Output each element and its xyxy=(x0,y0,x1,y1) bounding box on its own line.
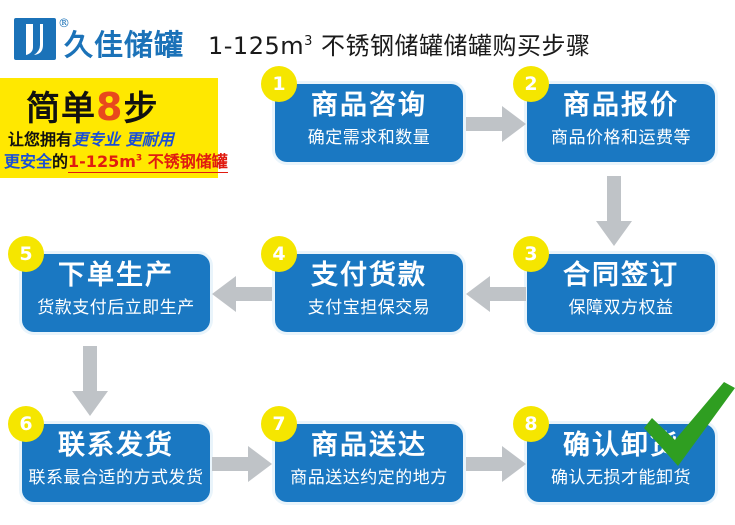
promo-headline: 简单8步 xyxy=(26,81,158,130)
promo-headline-pre: 简单 xyxy=(26,89,96,129)
arrow-step4-to-step5-icon xyxy=(212,274,272,314)
arrow-step6-to-step7-icon xyxy=(212,444,272,484)
step-badge-6: 6 xyxy=(8,406,44,442)
step-title-1: 商品咨询 xyxy=(275,92,463,119)
promo-line2-red-post: 不锈钢储罐 xyxy=(142,152,228,171)
step-subtitle-3: 保障双方权益 xyxy=(527,300,715,317)
brand-name: 久佳储罐 xyxy=(64,22,184,64)
promo-line2-red: 1-125m3 不锈钢储罐 xyxy=(68,152,228,173)
promo-line2-blue: 更安全 xyxy=(4,152,52,171)
promo-line1-blue: 更专业 更耐用 xyxy=(72,130,174,149)
promo-line2-red-pre: 1-125m xyxy=(68,152,136,171)
header: ® 久佳储罐 1-125m3 不锈钢储罐储罐购买步骤 xyxy=(0,0,735,66)
step-subtitle-8: 确认无损才能卸货 xyxy=(527,470,715,487)
arrow-step7-to-step8-icon xyxy=(466,444,526,484)
arrow-step2-to-step3-icon xyxy=(594,176,634,246)
arrow-step5-to-step6-icon xyxy=(70,346,110,416)
arrow-step3-to-step4-icon xyxy=(466,274,526,314)
step-box-7[interactable]: 7 商品送达 商品送达约定的地方 xyxy=(275,424,463,502)
promo-line-2: 更安全的1-125m3 不锈钢储罐 xyxy=(4,148,228,172)
step-badge-8: 8 xyxy=(513,406,549,442)
step-badge-7: 7 xyxy=(261,406,297,442)
step-badge-3: 3 xyxy=(513,236,549,272)
step-box-3[interactable]: 3 合同签订 保障双方权益 xyxy=(527,254,715,332)
promo-line1-black: 让您拥有 xyxy=(8,130,72,149)
promo-line2-black: 的 xyxy=(52,152,68,171)
step-title-3: 合同签订 xyxy=(527,262,715,289)
step-subtitle-6: 联系最合适的方式发货 xyxy=(22,470,210,487)
process-flow-infographic: ® 久佳储罐 1-125m3 不锈钢储罐储罐购买步骤 简单8步 让您拥有更专业 … xyxy=(0,0,735,525)
step-badge-5: 5 xyxy=(8,236,44,272)
promo-headline-number: 8 xyxy=(96,85,123,129)
page-title-rest: 不锈钢储罐储罐购买步骤 xyxy=(313,32,591,60)
promo-line-1: 让您拥有更专业 更耐用 xyxy=(8,126,174,150)
step-box-5[interactable]: 5 下单生产 货款支付后立即生产 xyxy=(22,254,210,332)
step-box-6[interactable]: 6 联系发货 联系最合适的方式发货 xyxy=(22,424,210,502)
step-title-5: 下单生产 xyxy=(22,262,210,289)
step-badge-1: 1 xyxy=(261,66,297,102)
step-badge-4: 4 xyxy=(261,236,297,272)
step-subtitle-1: 确定需求和数量 xyxy=(275,130,463,147)
step-subtitle-2: 商品价格和运费等 xyxy=(527,130,715,147)
page-title-prefix: 1-125m xyxy=(208,32,304,60)
step-subtitle-7: 商品送达约定的地方 xyxy=(275,470,463,487)
promo-headline-post: 步 xyxy=(123,89,158,129)
j-monogram-logo-icon xyxy=(14,18,56,60)
step-title-7: 商品送达 xyxy=(275,432,463,459)
step-box-1[interactable]: 1 商品咨询 确定需求和数量 xyxy=(275,84,463,162)
step-badge-2: 2 xyxy=(513,66,549,102)
page-title: 1-125m3 不锈钢储罐储罐购买步骤 xyxy=(208,26,591,61)
step-title-6: 联系发货 xyxy=(22,432,210,459)
step-subtitle-4: 支付宝担保交易 xyxy=(275,300,463,317)
step-title-4: 支付货款 xyxy=(275,262,463,289)
promo-banner: 简单8步 让您拥有更专业 更耐用 更安全的1-125m3 不锈钢储罐 xyxy=(0,78,218,178)
green-check-icon xyxy=(640,382,735,472)
page-title-superscript: 3 xyxy=(304,34,313,49)
arrow-step1-to-step2-icon xyxy=(466,104,526,144)
step-subtitle-5: 货款支付后立即生产 xyxy=(22,300,210,317)
step-title-2: 商品报价 xyxy=(527,92,715,119)
step-box-4[interactable]: 4 支付货款 支付宝担保交易 xyxy=(275,254,463,332)
step-box-2[interactable]: 2 商品报价 商品价格和运费等 xyxy=(527,84,715,162)
